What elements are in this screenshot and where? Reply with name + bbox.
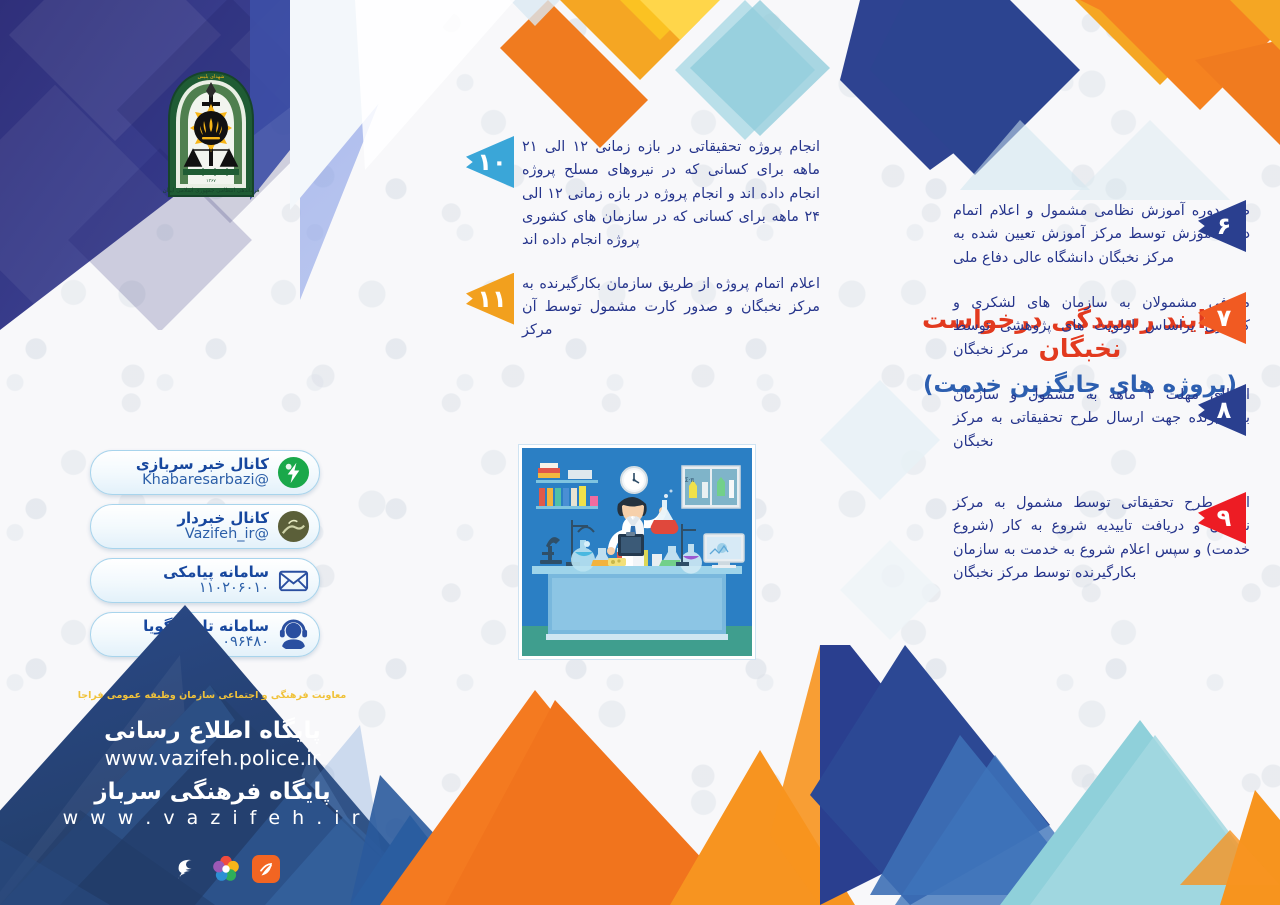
laboratory-scientist-illustration: Σ·π: [519, 445, 755, 659]
soroush-icon[interactable]: [172, 855, 200, 883]
logo-caption: فرماندهی انتظامی جمهوری اسلامی ایران: [163, 188, 260, 194]
contact-title: کانال خبر سربازی: [101, 457, 269, 473]
step-number: ۱۰: [477, 150, 506, 174]
step-item-10: ۱۰ انجام پروژه تحقیقاتی در بازه زمانی ۱۲…: [470, 136, 820, 253]
step-item-8: ۸ اعطای مهلت ۲ ماهه به مشمول و سازمان بک…: [895, 384, 1250, 454]
faraja-police-emblem: ۱۳۶۷ فرماندهی انتظامی جمهوری اسلامی ایرا…: [155, 68, 267, 216]
contact-title: سامانه پیامکی: [101, 565, 269, 581]
step-item-6: ۶ طی دوره آموزش نظامی مشمول و اعلام اتما…: [895, 200, 1250, 270]
social-icons: [130, 855, 280, 883]
step-number: ۹: [1217, 506, 1232, 530]
contact-value: @Vazifeh_ir: [101, 527, 269, 542]
contact-value: @Khabaresarbazi: [101, 473, 269, 488]
step-text: معرفی مشمولان به سازمان های لشکری و کشور…: [895, 292, 1250, 362]
svg-text:شهدای پلیس: شهدای پلیس: [198, 74, 225, 80]
khabar-sarbazi-channel-icon: [277, 456, 310, 489]
eitaa-icon[interactable]: [252, 855, 280, 883]
step-item-7: ۷ معرفی مشمولان به سازمان های لشکری و کش…: [895, 292, 1250, 362]
site2-url[interactable]: w w w . v a z i f e h . i r: [40, 807, 385, 829]
footer-links: پایگاه اطلاع رسانی www.vazifeh.police.ir…: [40, 718, 385, 829]
step-badge-9: ۹: [1198, 492, 1246, 544]
poster-canvas: ۱۳۶۷ فرماندهی انتظامی جمهوری اسلامی ایرا…: [0, 0, 1280, 905]
contact-item-khabar-sarbazi[interactable]: کانال خبر سربازی @Khabaresarbazi: [90, 450, 320, 495]
contact-title: کانال خبردار: [101, 511, 269, 527]
site1-url[interactable]: www.vazifeh.police.ir: [40, 746, 385, 770]
steps-column-right: ۶ طی دوره آموزش نظامی مشمول و اعلام اتما…: [895, 200, 1250, 603]
step-item-9: ۹ ارائه طرح تحقیقاتی توسط مشمول به مرکز …: [895, 492, 1250, 585]
step-text: اعلام اتمام پروژه از طریق سازمان بکارگیر…: [470, 273, 820, 343]
step-badge-10: ۱۰: [466, 136, 514, 188]
step-text: طی دوره آموزش نظامی مشمول و اعلام اتمام …: [895, 200, 1250, 270]
contact-item-khabardar[interactable]: کانال خبردار @Vazifeh_ir: [90, 504, 320, 549]
step-text: اعطای مهلت ۲ ماهه به مشمول و سازمان بکار…: [895, 384, 1250, 454]
step-badge-11: ۱۱: [466, 273, 514, 325]
step-badge-7: ۷: [1198, 292, 1246, 344]
site2-label: پایگاه فرهنگی سرباز: [40, 779, 385, 805]
step-badge-8: ۸: [1198, 384, 1246, 436]
footer-department-caption: معاونت فرهنگی و اجتماعی سازمان وظیفه عمو…: [62, 690, 362, 701]
bale-icon[interactable]: [212, 855, 240, 883]
step-text: ارائه طرح تحقیقاتی توسط مشمول به مرکز نخ…: [895, 492, 1250, 585]
step-badge-6: ۶: [1198, 200, 1246, 252]
steps-column-middle: ۱۰ انجام پروژه تحقیقاتی در بازه زمانی ۱۲…: [470, 136, 820, 361]
site1-label: پایگاه اطلاع رسانی: [40, 718, 385, 744]
svg-text:۱۳۶۷: ۱۳۶۷: [206, 178, 216, 184]
step-number: ۷: [1217, 306, 1232, 330]
step-number: ۸: [1217, 398, 1232, 422]
step-number: ۱۱: [477, 287, 506, 311]
khabardar-channel-icon: [277, 510, 310, 543]
step-number: ۶: [1217, 214, 1232, 238]
step-item-11: ۱۱ اعلام اتمام پروژه از طریق سازمان بکار…: [470, 273, 820, 343]
bottom-decoration-shapes: [350, 645, 1280, 905]
step-text: انجام پروژه تحقیقاتی در بازه زمانی ۱۲ ال…: [470, 136, 820, 253]
svg-text:Σ·π: Σ·π: [685, 477, 695, 484]
